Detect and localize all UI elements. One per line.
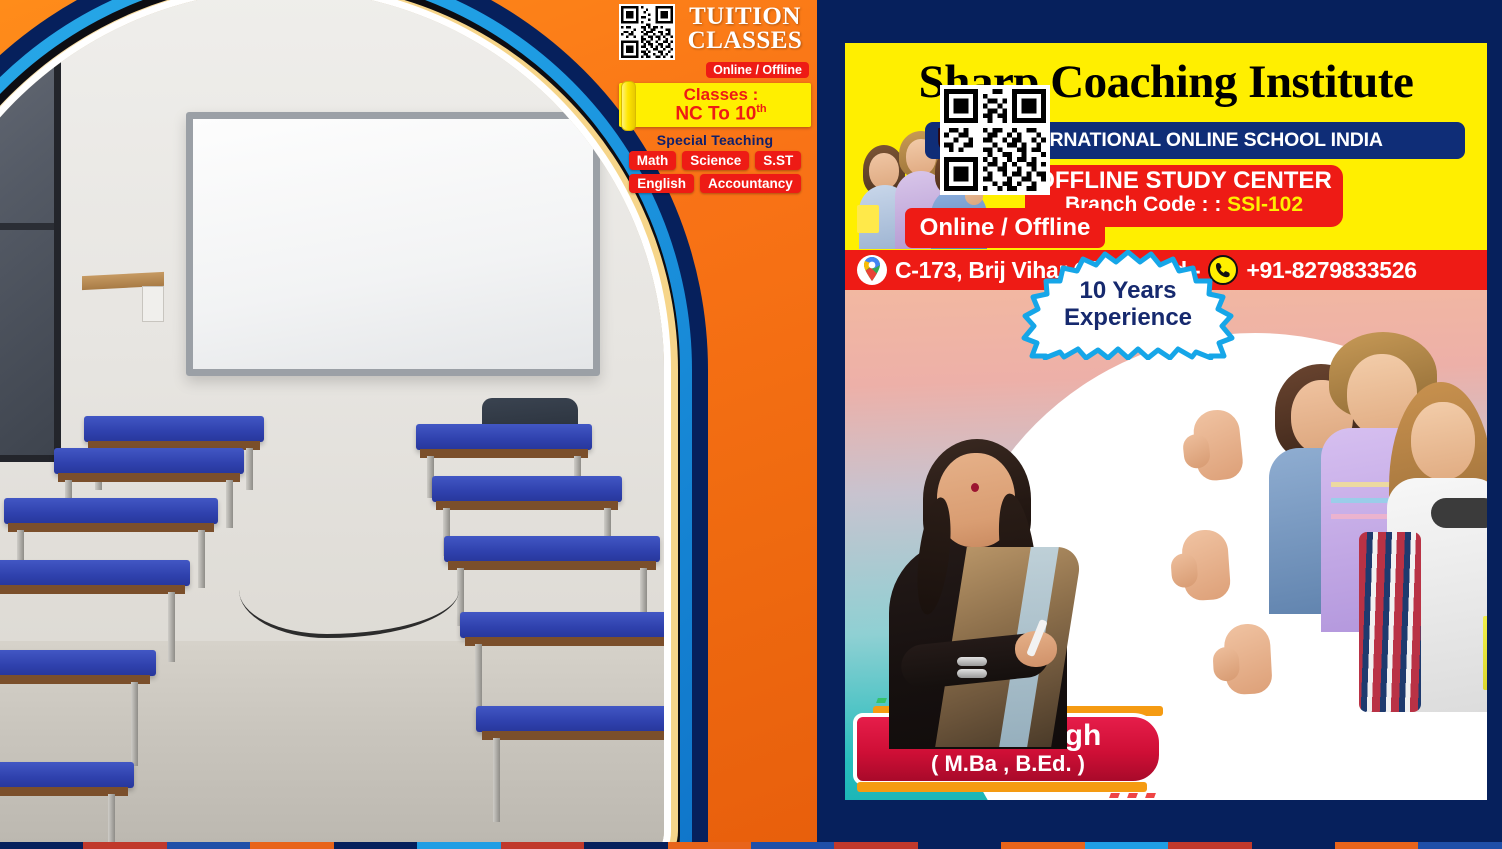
branch-code-value: SSI-102	[1227, 193, 1303, 216]
experience-line-1: 10 Years	[1080, 278, 1177, 305]
window	[0, 18, 61, 462]
light-switch	[142, 286, 164, 322]
qr-code-icon	[621, 6, 673, 58]
classroom-photo	[0, 0, 664, 849]
students-thumbs-up-photo	[1161, 324, 1487, 764]
qr-code[interactable]	[940, 85, 1050, 195]
student-girl-right	[1387, 382, 1487, 712]
classes-range-suffix: th	[756, 103, 766, 115]
classes-range: NC To 10th	[635, 104, 807, 124]
desk	[460, 612, 664, 716]
classes-range-text: NC To 10	[675, 103, 756, 124]
thumbs-up-hand	[1191, 408, 1244, 482]
decor-dashes	[1110, 793, 1155, 798]
classroom-photo-arch	[0, 0, 664, 849]
tuition-line-1: TUITION	[679, 5, 811, 29]
branch-code-separator: :	[1214, 193, 1221, 216]
desk	[476, 706, 664, 826]
qr-code[interactable]	[619, 4, 675, 60]
tuition-headline: TUITION CLASSES	[679, 4, 811, 53]
thumbs-up-hand	[1181, 528, 1232, 601]
desk	[0, 650, 156, 770]
desk	[0, 560, 190, 664]
bottom-color-strip	[0, 842, 1502, 849]
left-photo-panel: TUITION CLASSES Online / Offline Classes…	[0, 0, 817, 849]
subject-chip-science[interactable]: Science	[682, 151, 749, 170]
thumbs-up-hand	[1223, 623, 1273, 695]
teacher-bangle	[957, 657, 987, 666]
special-teaching-label: Special Teaching	[619, 132, 811, 148]
classes-label: Classes :	[635, 86, 807, 104]
right-info-panel: Sharp Coaching Institute	[845, 43, 1487, 800]
teacher-qualification: ( M.Ba , B.Ed. )	[931, 751, 1085, 776]
offline-heading: OFFLINE STUDY CENTER	[1025, 168, 1343, 194]
map-pin-icon	[857, 254, 887, 286]
mode-pill: Online / Offline	[706, 62, 809, 78]
banner-accent-bottom	[857, 782, 1147, 792]
teacher-photo	[865, 443, 1095, 743]
tuition-info-column: TUITION CLASSES Online / Offline Classes…	[619, 4, 811, 193]
subject-chip-math[interactable]: Math	[629, 151, 677, 170]
poster-canvas: TUITION CLASSES Online / Offline Classes…	[0, 0, 1502, 849]
phone-number: +91-8279833526	[1246, 257, 1416, 284]
tuition-line-2: CLASSES	[679, 29, 811, 53]
teacher-bangle	[957, 669, 987, 678]
subject-chip-english[interactable]: English	[629, 174, 694, 193]
whiteboard	[186, 112, 600, 376]
tuition-headline-row: TUITION CLASSES	[619, 4, 811, 60]
subject-chip-sst[interactable]: S.ST	[755, 151, 801, 170]
teacher-bindi	[971, 483, 979, 492]
subject-list: Math Science S.ST English Accountancy	[619, 151, 811, 193]
classes-scroll-banner: Classes : NC To 10th	[619, 83, 811, 127]
online-offline-badge: Online / Offline	[905, 208, 1105, 248]
qr-code-icon	[944, 89, 1046, 191]
subject-chip-accountancy[interactable]: Accountancy	[700, 174, 801, 193]
online-offline-label: Online / Offline	[920, 214, 1091, 242]
desk	[0, 762, 134, 849]
